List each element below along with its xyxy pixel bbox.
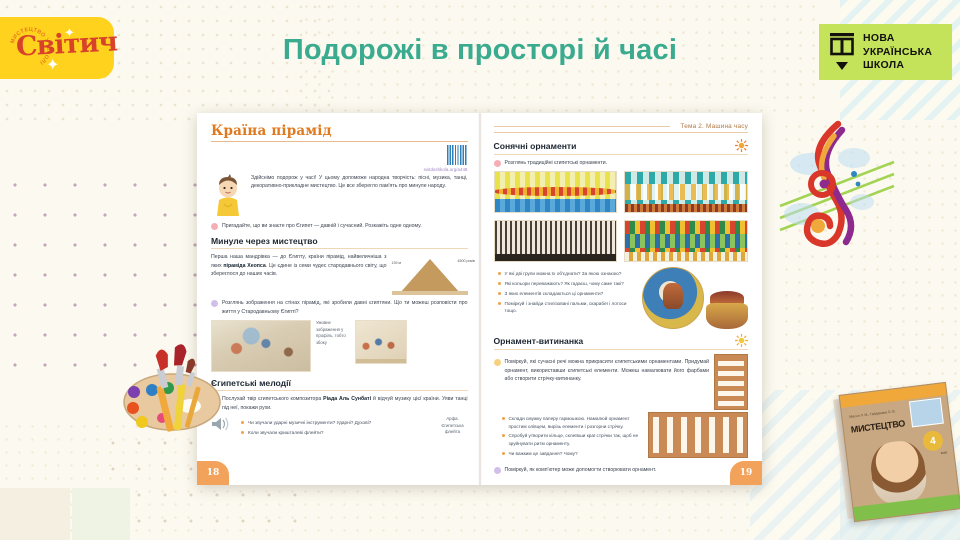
intro-paragraph: Здійснімо подорож у часі! У цьому допомо…: [251, 174, 468, 191]
ornament-stripes-multicolor[interactable]: [624, 220, 748, 262]
vytynanka-strip-horizontal: [648, 412, 748, 458]
book-grade-badge: 4: [922, 430, 944, 452]
book-cover-child-illustration: [868, 438, 929, 506]
ornament-column-grey[interactable]: [494, 220, 618, 262]
vytynanka-step: Склади смужку паперу гармошкою. Намалюй …: [502, 415, 644, 430]
resource-url[interactable]: svitdoshkola.org/a448: [211, 167, 468, 172]
page-title: Подорожі в просторі й часі: [0, 34, 960, 67]
girl-character-icon: [211, 174, 245, 218]
right-section-1-title: Сонячні орнаменти: [494, 141, 577, 151]
instrument-annotation: Арфа. Єгипетська флейта: [438, 416, 468, 435]
task-bullet-icon: [211, 300, 218, 307]
ornament-question: Поміркуй і знайди стилізовані пальми, ск…: [498, 300, 637, 315]
background-block-bottom-left: [0, 488, 70, 540]
s2-text-b: Ріада Аль Сунбаті: [323, 396, 371, 402]
right-task-1: Розглянь традиційні єгипетські орнаменти…: [494, 159, 749, 167]
section-heading-sun-ornaments: Сонячні орнаменти: [494, 139, 749, 155]
pyramid-height-label: 139 м: [392, 261, 401, 265]
treble-clef-illustration: [778, 118, 896, 248]
section-1-title: Минуле через мистецтво: [211, 236, 318, 246]
ornament-lotus-yellow-blue[interactable]: [494, 171, 618, 213]
task-bullet-icon: [211, 223, 218, 230]
listening-questions: Чи звучали ударні музичні інструменти? У…: [241, 419, 434, 439]
task-2-text: Розглянь зображення на стінах пірамід, я…: [222, 299, 468, 316]
page-number-left: 18: [197, 461, 229, 485]
egypt-mural-image-2: [355, 320, 407, 364]
ornament-question: Які кольори переважають? Як гадаєш, чому…: [498, 280, 637, 287]
ornament-questions: У які дві групи можна їх об'єднати? За я…: [498, 270, 637, 316]
task-bullet-icon: [494, 467, 501, 474]
pyramid-illustration: 139 м 4500 років: [392, 255, 468, 295]
section-2-paragraph: Послухай твір єгипетського композитора Р…: [222, 395, 468, 412]
task-bullet-icon: [494, 160, 501, 167]
page-number-right: 19: [730, 461, 762, 485]
ornament-gallery: [494, 171, 749, 262]
decorative-plate: [642, 267, 704, 329]
ornament-question: У які дві групи можна їх об'єднати? За я…: [498, 270, 637, 277]
listening-question: Коли звучали кришталеві флейти?: [241, 429, 434, 436]
vytynanka-step: Чи важким це завдання? Чому?: [502, 450, 644, 457]
section-heading-egyptian-melodies: Єгипетські мелодії: [211, 378, 468, 391]
task-listen: Послухай твір єгипетського композитора Р…: [211, 395, 468, 412]
task-bullet-icon: [494, 359, 501, 366]
task-1-text: Пригадайте, що ви знаєте про Єгипет — да…: [222, 222, 422, 230]
nush-line-3: ШКОЛА: [863, 59, 932, 71]
listening-question: Чи звучали ударні музичні інструменти? У…: [241, 419, 434, 426]
vytynanka-steps: Склади смужку паперу гармошкою. Намалюй …: [502, 415, 644, 459]
pyramid-age-label: 4500 років: [458, 259, 480, 263]
topic-bar: Тема 2. Машина часу: [494, 123, 749, 133]
section-1-paragraph: Перша наша мандрівка — до Єгипту, країни…: [211, 253, 387, 278]
nush-logo-text: НОВА УКРАЇНСЬКА ШКОЛА: [863, 32, 932, 71]
qr-code-icon[interactable]: [446, 144, 468, 166]
background-block-bottom-left-2: [72, 488, 130, 540]
textbook-spread[interactable]: Країна пірамід svitdoshkola.org/a448 Зді…: [197, 113, 762, 485]
vytynanka-step: Спробуй утворити кільце, склеївши краї с…: [502, 432, 644, 447]
right-task-1-text: Розглянь традиційні єгипетські орнаменти…: [505, 159, 608, 167]
book-cover-photo: [909, 398, 944, 428]
ornament-lotus-teal[interactable]: [624, 171, 748, 213]
s1-text-b: піраміда Хеопса: [223, 263, 265, 269]
right-task-3-text: Поміркуй, як комп'ютер може допомогти ст…: [505, 466, 657, 474]
nush-emblem-icon: [829, 32, 855, 72]
right-task-2-text: Поміркуй, які сучасні речі можна прикрас…: [505, 358, 710, 383]
section-heading-past-through-art: Минуле через мистецтво: [211, 236, 468, 249]
nush-line-1: НОВА: [863, 32, 932, 44]
left-page: Країна пірамід svitdoshkola.org/a448 Зді…: [197, 113, 480, 485]
book-authors: Масол Л. М., Гайдамака О. В.: [849, 409, 896, 419]
nush-line-2: УКРАЇНСЬКА: [863, 46, 932, 58]
task-2: Розглянь зображення на стінах пірамід, я…: [211, 299, 468, 316]
section-heading-ornament-vytynanka: Орнамент-витинанка: [494, 334, 749, 350]
task-1: Пригадайте, що ви знаєте про Єгипет — да…: [211, 222, 468, 230]
textbook-cover[interactable]: Масол Л. М., Гайдамака О. В. МИСТЕЦТВО 4…: [839, 382, 960, 522]
topic-label: Тема 2. Машина часу: [680, 123, 748, 130]
sun-icon: [735, 334, 748, 347]
sun-icon: [735, 139, 748, 152]
art-palette-with-brushes-icon: [118, 340, 230, 436]
s2-text-a: Послухай твір єгипетського композитора: [222, 396, 321, 402]
ornament-question: З яких елементів складаються ці орнамент…: [498, 290, 637, 297]
right-section-2-title: Орнамент-витинанка: [494, 336, 584, 346]
right-task-3: Поміркуй, як комп'ютер може допомогти ст…: [494, 466, 749, 474]
left-page-heading: Країна пірамід: [211, 123, 468, 142]
right-page: Тема 2. Машина часу Сонячні орнаменти Ро…: [480, 113, 763, 485]
book-title: МИСТЕЦТВО: [850, 418, 905, 435]
nush-logo[interactable]: НОВА УКРАЇНСЬКА ШКОЛА: [819, 24, 952, 80]
mural-caption: Умовне зображення у профіль, тобто збоку: [316, 320, 350, 346]
ceramic-pot: [706, 291, 748, 329]
right-task-2: Поміркуй, які сучасні речі можна прикрас…: [494, 358, 710, 383]
vytynanka-strip-vertical: [714, 354, 748, 410]
book-grade-label: клас: [941, 450, 948, 455]
